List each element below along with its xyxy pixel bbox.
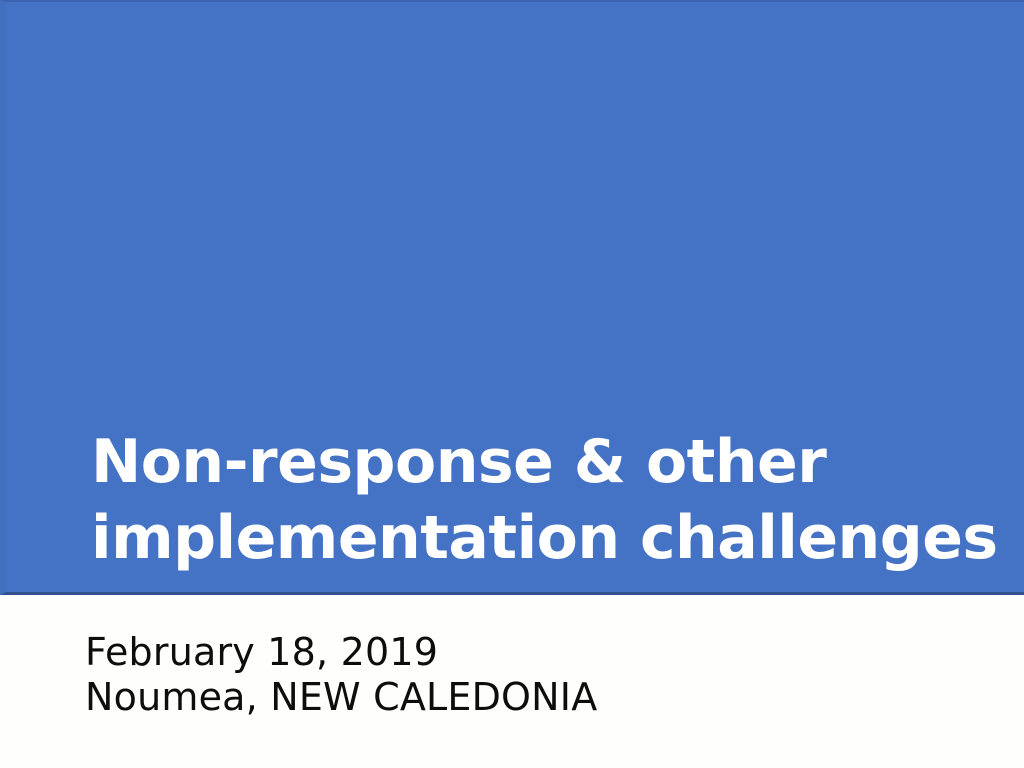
slide-subtitle: February 18, 2019 Noumea, NEW CALEDONIA — [85, 630, 785, 720]
slide-title-line-1: Non-response & other — [91, 424, 961, 500]
slide-title-line-2: implementation challenges — [91, 500, 961, 576]
slide-title: Non-response & other implementation chal… — [91, 424, 961, 576]
title-banner: Non-response & other implementation chal… — [0, 0, 1024, 595]
subtitle-location: Noumea, NEW CALEDONIA — [85, 675, 785, 720]
presentation-slide: Non-response & other implementation chal… — [0, 0, 1024, 768]
subtitle-date: February 18, 2019 — [85, 630, 785, 675]
